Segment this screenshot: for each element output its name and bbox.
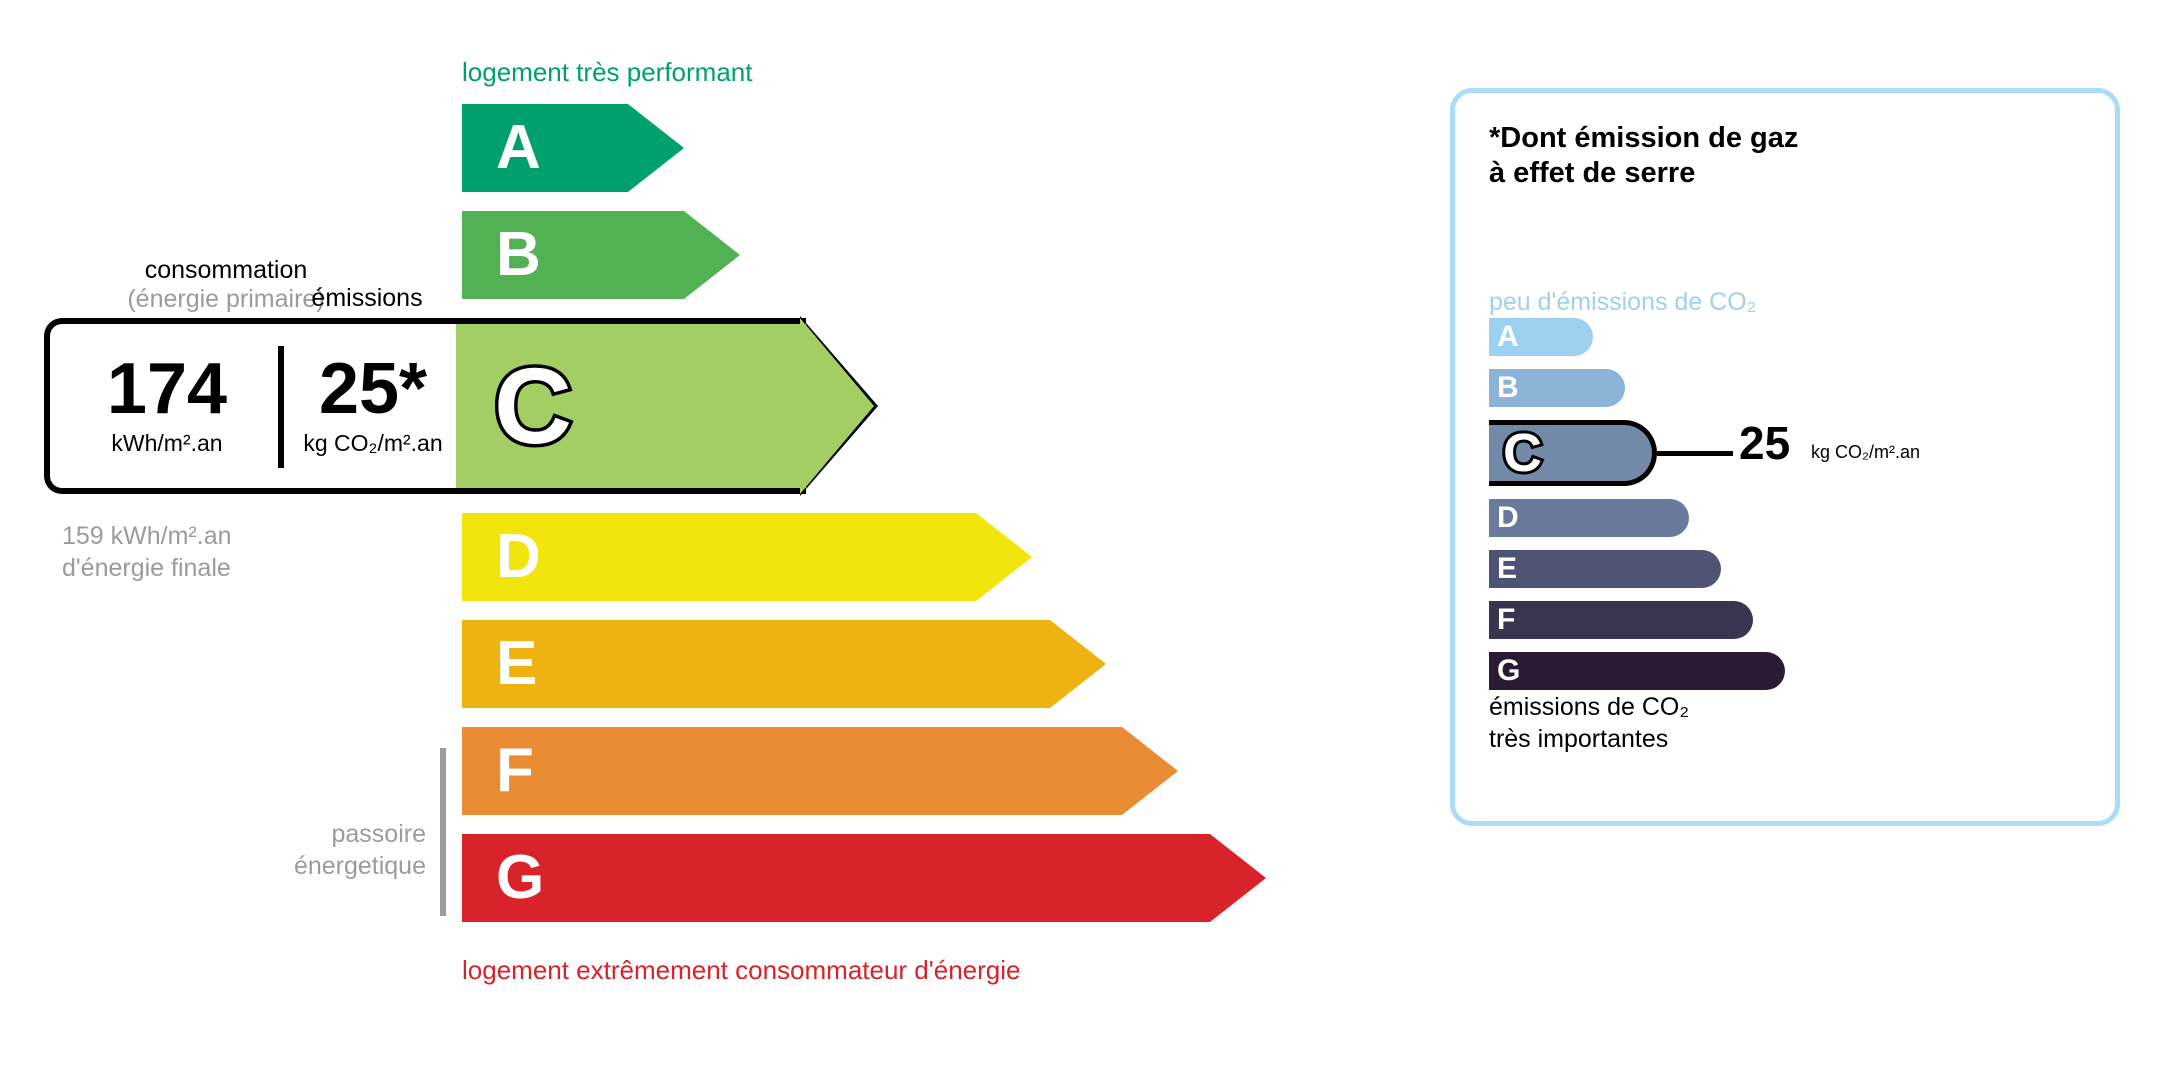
energy-bar-e-letter: E [496, 633, 537, 695]
energy-bar-c-tip [800, 318, 874, 494]
energy-bar-g-tip [1210, 834, 1266, 922]
emissions-caption: émissions [278, 284, 456, 313]
energy-bar-f-letter: F [496, 740, 534, 802]
dpe-label: logement très performant A B [0, 0, 2169, 1079]
co2-value: 25 [1739, 420, 1790, 466]
energy-bar-g-body [462, 834, 1210, 922]
consumption-unit: kWh/m².an [111, 430, 222, 457]
co2-bar-e-letter: E [1497, 554, 1517, 584]
co2-bar-d [1489, 499, 1689, 537]
value-box: 174 kWh/m².an 25* kg CO₂/m².an [44, 318, 462, 494]
co2-bar-f [1489, 601, 1753, 639]
co2-bar-e [1489, 550, 1721, 588]
energy-row-c-wrapper: consommation (énergie primaire) émission… [44, 318, 874, 494]
final-energy-line1: 159 kWh/m².an [62, 520, 232, 552]
co2-bar-b-letter: B [1497, 373, 1519, 403]
energy-bar-d-letter: D [496, 526, 541, 588]
final-energy-line2: d'énergie finale [62, 552, 232, 584]
co2-bar-c-letter: C [1503, 426, 1542, 480]
energy-bar-d-tip [976, 513, 1032, 601]
passoire-energetique-label: passoire énergetique [230, 818, 426, 882]
co2-bottom-caption: émissions de CO₂ très importantes [1489, 691, 1689, 755]
passoire-line2: énergetique [230, 850, 426, 882]
energy-scale-top-caption: logement très performant [462, 57, 752, 88]
co2-bar-a-letter: A [1497, 322, 1519, 352]
co2-leader-line [1657, 451, 1733, 456]
energy-bar-f-tip [1122, 727, 1178, 815]
emissions-value-cell: 25* kg CO₂/m².an [284, 324, 462, 488]
final-energy-note: 159 kWh/m².an d'énergie finale [62, 520, 232, 584]
energy-bar-b-letter: B [496, 224, 541, 286]
co2-bar-f-letter: F [1497, 605, 1515, 635]
emissions-value: 25* [319, 355, 427, 423]
energy-bar-e-body [462, 620, 1050, 708]
co2-bar-g [1489, 652, 1785, 690]
consumption-value: 174 [107, 355, 227, 423]
energy-bar-f-body [462, 727, 1122, 815]
energy-bar-a-body [462, 104, 628, 192]
consumption-value-cell: 174 kWh/m².an [56, 324, 278, 488]
energy-scale-bottom-caption: logement extrêmement consommateur d'éner… [462, 955, 1020, 986]
consumption-caption-line1: consommation [106, 256, 346, 285]
energy-bar-a-tip [628, 104, 684, 192]
co2-bar-d-letter: D [1497, 503, 1519, 533]
energy-bar-c: C [456, 318, 874, 494]
co2-bottom-caption-line1: émissions de CO₂ [1489, 691, 1689, 723]
passoire-energetique-marker [440, 748, 446, 916]
energy-bar-a-letter: A [496, 117, 541, 179]
passoire-line1: passoire [230, 818, 426, 850]
co2-bar-g-letter: G [1497, 656, 1520, 686]
energy-bar-g-letter: G [496, 847, 544, 909]
co2-top-caption: peu d'émissions de CO₂ [1489, 288, 1756, 317]
co2-emissions-panel: *Dont émission de gaz à effet de serre p… [1450, 88, 2120, 826]
co2-panel-title: *Dont émission de gaz à effet de serre [1489, 121, 1798, 191]
co2-bottom-caption-line2: très importantes [1489, 723, 1689, 755]
co2-panel-title-line2: à effet de serre [1489, 156, 1798, 191]
energy-bar-c-letter: C [494, 352, 572, 460]
co2-value-unit: kg CO₂/m².an [1811, 442, 1920, 463]
emissions-unit: kg CO₂/m².an [303, 430, 442, 457]
co2-panel-title-line1: *Dont émission de gaz [1489, 121, 1798, 156]
energy-bar-e-tip [1050, 620, 1106, 708]
energy-consumption-scale: logement très performant A B [0, 0, 1320, 1079]
energy-bar-b-tip [684, 211, 740, 299]
